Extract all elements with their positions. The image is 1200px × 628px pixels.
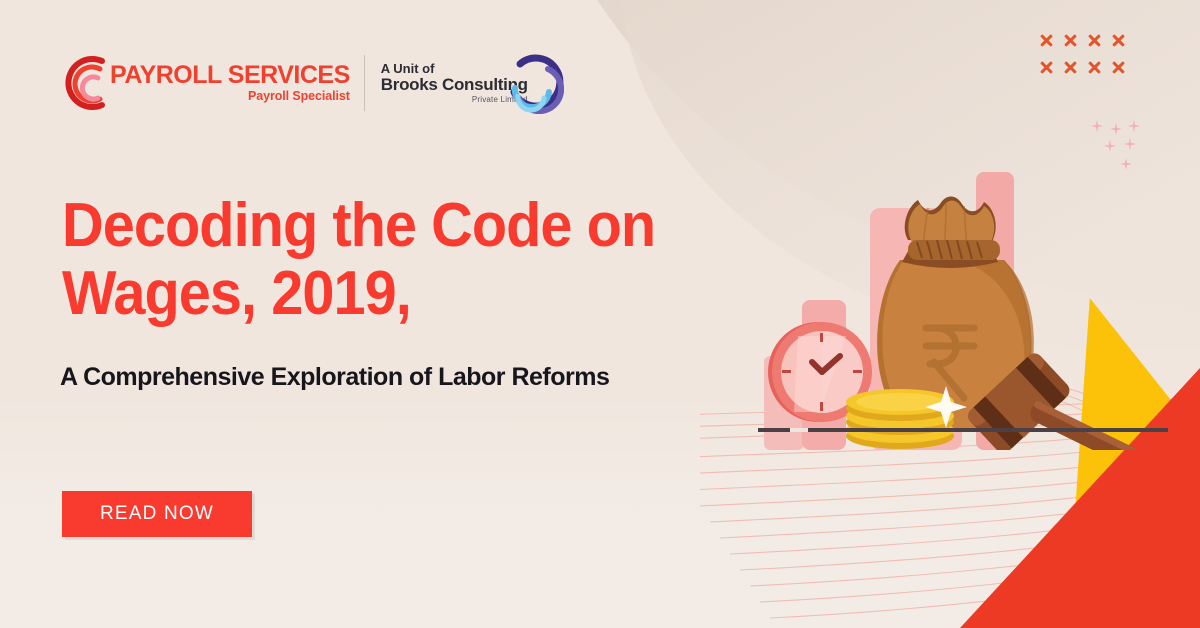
x-mark-icon	[1108, 57, 1132, 84]
x-mark-icon	[1036, 57, 1060, 84]
x-mark-grid	[1036, 30, 1132, 84]
ground-line	[758, 428, 1168, 432]
pink-sparkle-icon	[1091, 120, 1103, 132]
wages-law-illustration	[750, 160, 1190, 450]
payroll-logo-tagline: Payroll Specialist	[110, 90, 350, 103]
marketing-banner: PAYROLL SERVICES Payroll Specialist A Un…	[0, 0, 1200, 628]
payroll-logo-name: PAYROLL SERVICES	[110, 63, 350, 88]
brooks-consulting-logo[interactable]: A Unit of Brooks Consulting Private Limi…	[381, 48, 564, 118]
x-mark-icon	[1084, 57, 1108, 84]
logo-lockup[interactable]: PAYROLL SERVICES Payroll Specialist A Un…	[58, 44, 564, 122]
circular-swirl-icon	[502, 52, 564, 114]
coin-stack-icon	[846, 389, 954, 449]
x-mark-icon	[1108, 30, 1132, 57]
ground-line-gap	[790, 428, 808, 432]
x-mark-icon	[1084, 30, 1108, 57]
x-mark-icon	[1036, 30, 1060, 57]
page-subtitle: A Comprehensive Exploration of Labor Ref…	[60, 363, 609, 392]
read-now-button[interactable]: READ NOW	[62, 491, 252, 537]
page-title: Decoding the Code on Wages, 2019,	[62, 192, 657, 328]
swoosh-arc-icon	[58, 54, 116, 112]
pink-sparkle-icon	[1128, 120, 1140, 132]
x-mark-icon	[1060, 57, 1084, 84]
pink-sparkle-icon	[1110, 123, 1122, 135]
headline-block: Decoding the Code on Wages, 2019,	[62, 192, 702, 328]
x-mark-icon	[1060, 30, 1084, 57]
payroll-services-logo[interactable]: PAYROLL SERVICES Payroll Specialist	[58, 48, 350, 118]
logo-divider	[364, 55, 365, 111]
pink-sparkle-icon	[1104, 140, 1116, 152]
pink-sparkle-icon	[1124, 138, 1136, 150]
